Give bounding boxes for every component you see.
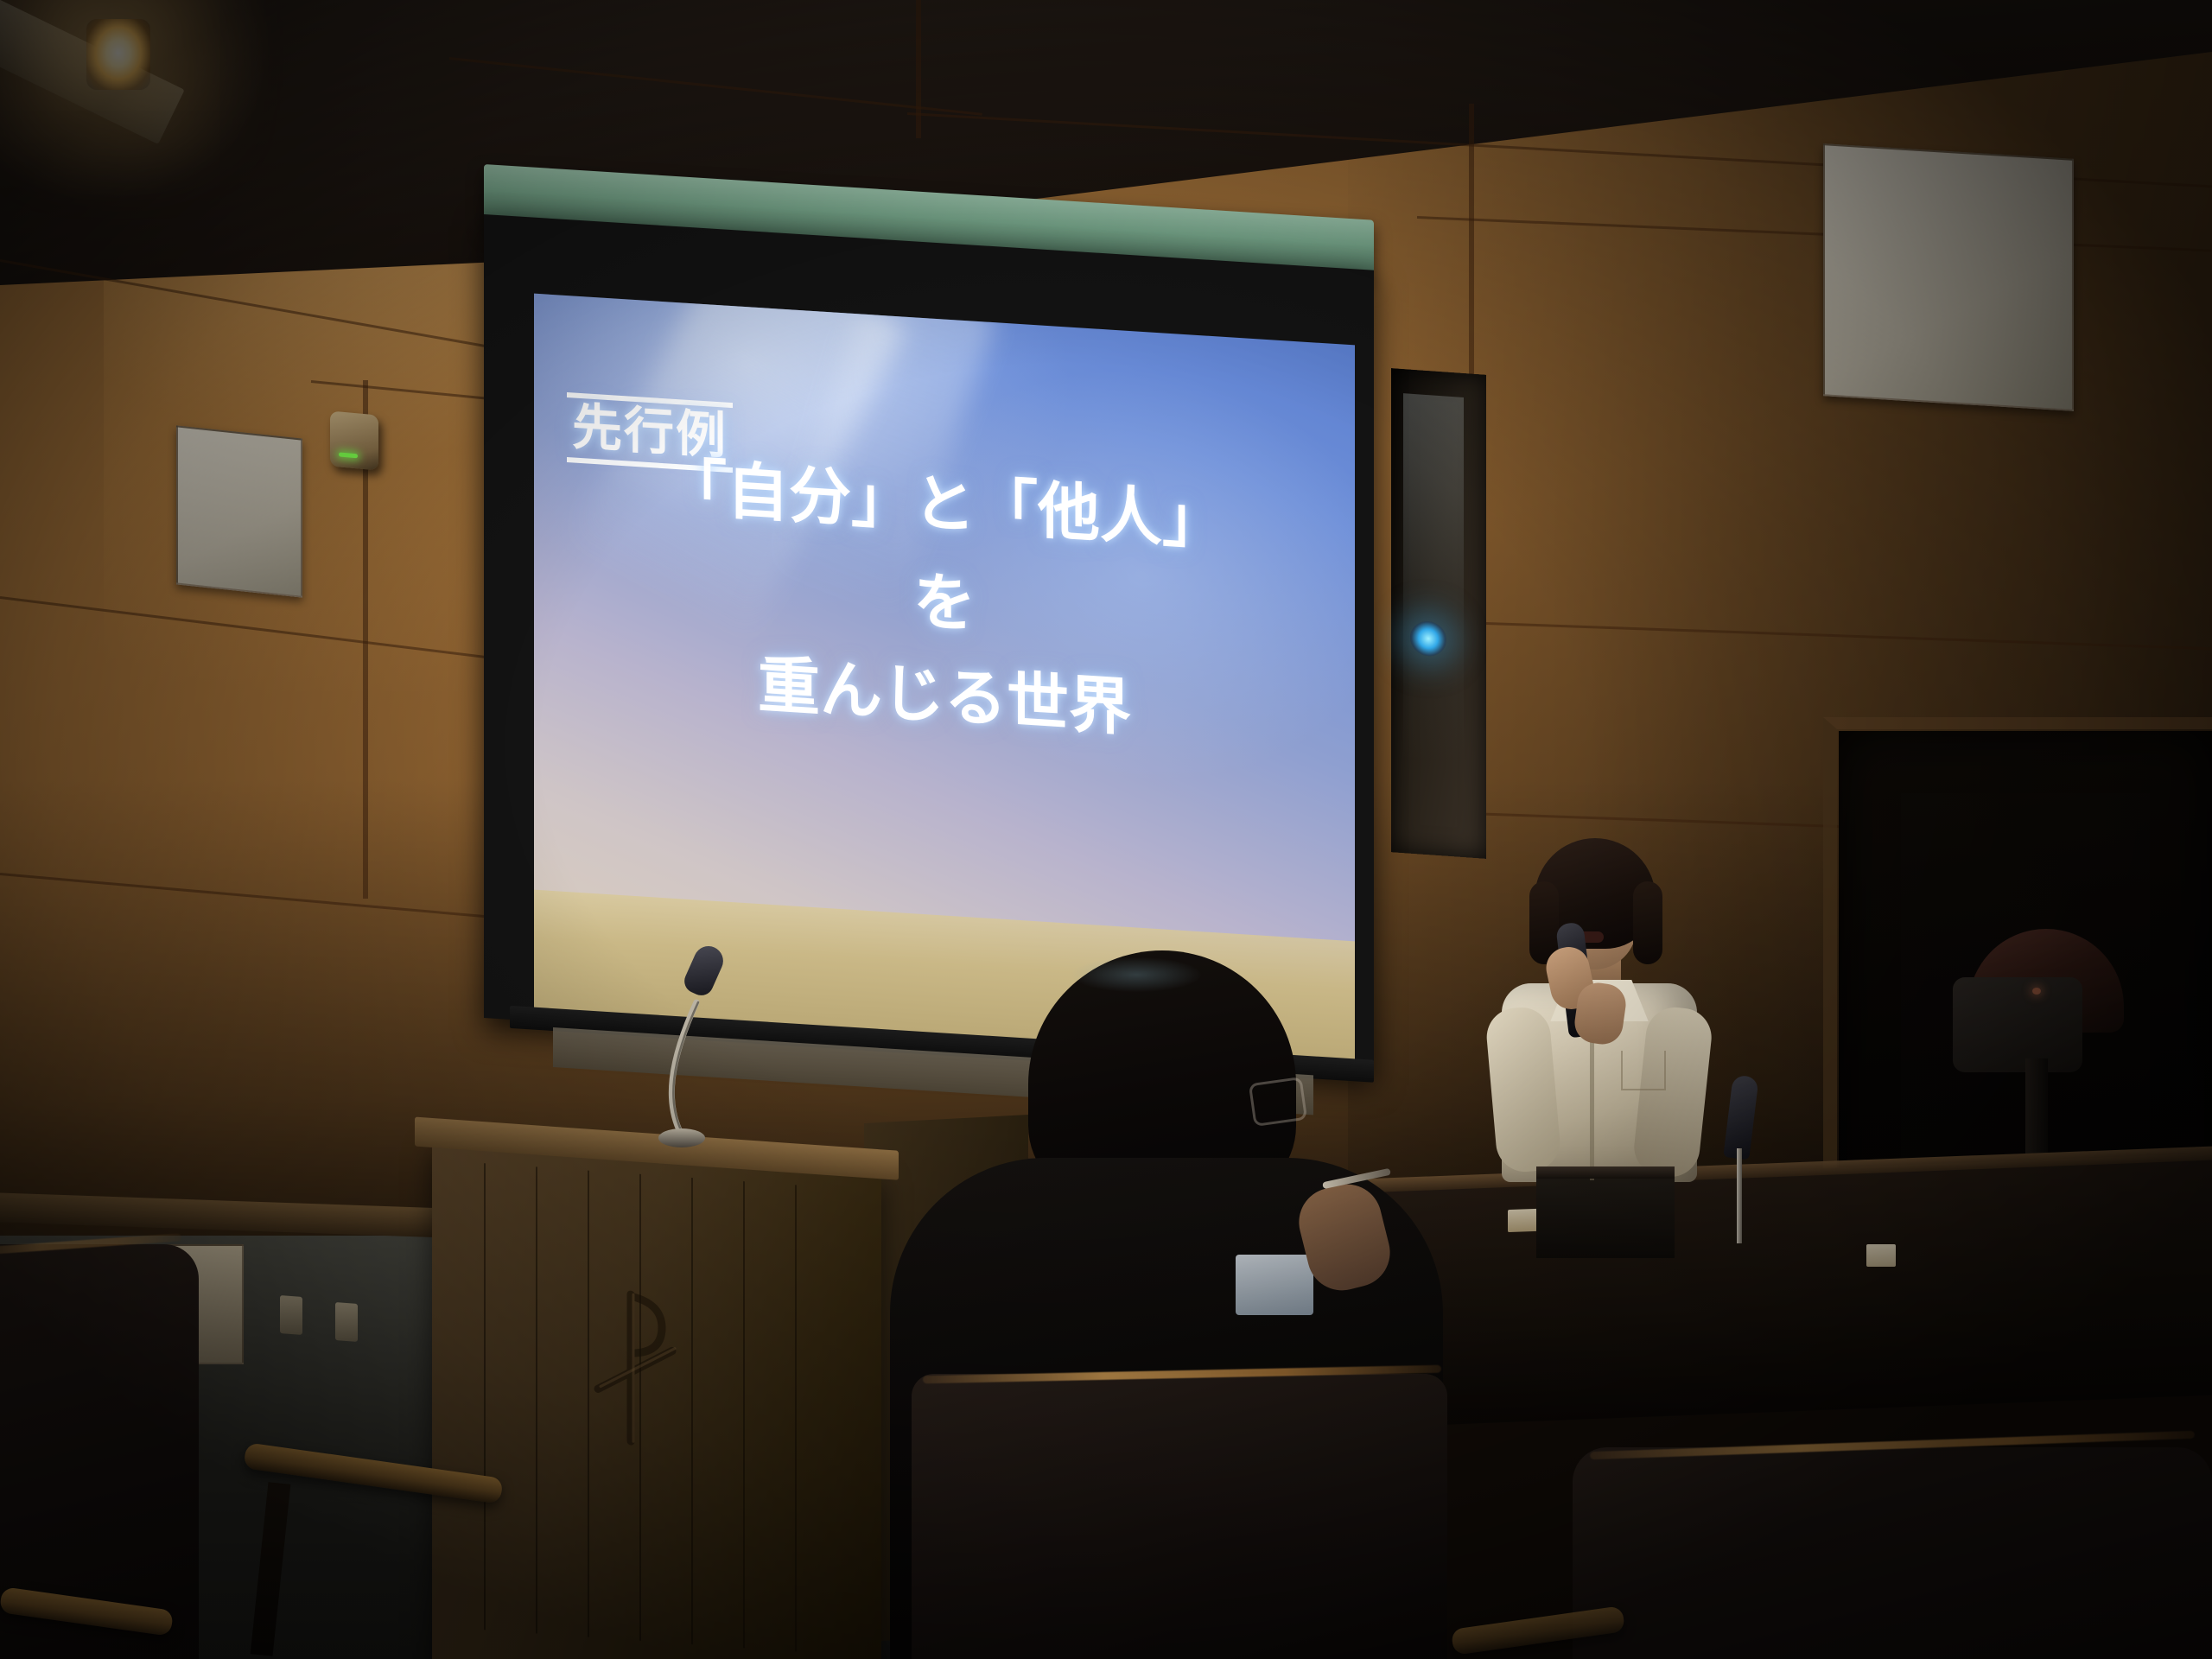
podium-plank — [536, 1166, 537, 1633]
gooseneck-microphone-base — [658, 1128, 705, 1147]
wall-seam-vertical — [916, 0, 921, 138]
acoustic-panel-right — [1823, 143, 2074, 411]
equipment-indicator — [2032, 988, 2041, 995]
equipment-pole — [2025, 1058, 2048, 1154]
podium-plank — [743, 1181, 745, 1648]
auditorium-chair-center[interactable] — [912, 1374, 1447, 1659]
chi-rho-icon — [589, 1278, 693, 1458]
speaker-trousers — [1536, 1172, 1675, 1258]
attendee-hair-highlight — [1071, 957, 1201, 992]
slide-line-1: 「自分」と「他人」 — [534, 446, 1355, 565]
wall-alcove — [1391, 368, 1486, 859]
attendee-device-screen — [1236, 1255, 1313, 1315]
equipment-body — [1953, 977, 2082, 1072]
camera-on-stand — [1953, 929, 2134, 1136]
acoustic-panel-left — [176, 425, 302, 597]
speaker-shirt-pocket — [1621, 1051, 1666, 1090]
ceiling-spotlight — [86, 19, 150, 90]
speaker-presenter — [1469, 838, 1728, 1236]
alcove-pane — [1403, 393, 1464, 760]
lecture-hall-scene: 先行例 「自分」と「他人」 を 重んじる世界 — [0, 0, 2212, 1659]
auditorium-chair-right[interactable] — [1573, 1447, 2212, 1659]
sensor-led — [339, 452, 358, 458]
speaker-hair-side-right — [1633, 881, 1662, 964]
wall-sensor[interactable] — [330, 411, 378, 471]
speaker-belt — [1536, 1166, 1675, 1179]
attendee-eyeglasses — [1249, 1077, 1307, 1127]
podium-plank — [795, 1185, 797, 1651]
podium — [432, 1141, 881, 1659]
stand-microphone-head — [1723, 1075, 1758, 1160]
stage-small-object — [1866, 1244, 1896, 1267]
light-switch[interactable] — [335, 1302, 358, 1342]
gooseneck-microphone — [639, 950, 743, 1158]
slide-line-3: 重んじる世界 — [534, 638, 1355, 757]
wall-outlet[interactable] — [280, 1295, 302, 1335]
stand-microphone-pole — [1737, 1148, 1742, 1243]
podium-plank — [484, 1163, 486, 1630]
